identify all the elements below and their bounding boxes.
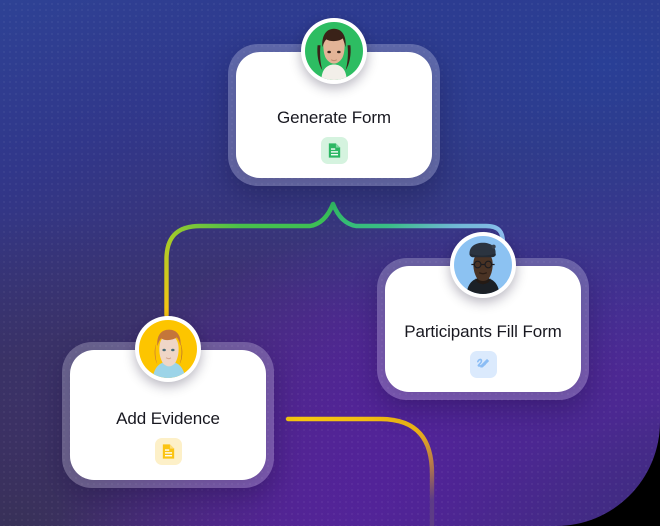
node-add-evidence[interactable]: Add Evidence (62, 342, 274, 488)
document-lines-icon (321, 137, 348, 164)
document-lines-icon (155, 438, 182, 465)
node-label: Participants Fill Form (404, 322, 561, 342)
node-label: Generate Form (277, 108, 391, 128)
node-label: Add Evidence (116, 409, 220, 429)
connector-evidence-outgoing (288, 419, 432, 526)
avatar[interactable] (450, 232, 516, 298)
signature-pen-icon (470, 351, 497, 378)
man-beret-glasses-avatar (454, 236, 512, 294)
woman-red-hair-avatar (139, 320, 197, 378)
node-participants-fill-form[interactable]: Participants Fill Form (377, 258, 589, 400)
avatar[interactable] (135, 316, 201, 382)
connector-generate-to-evidence (167, 204, 334, 315)
woman-dark-hair-avatar (305, 22, 363, 80)
workflow-canvas: Generate Form (0, 0, 660, 526)
node-generate-form[interactable]: Generate Form (228, 44, 440, 186)
avatar[interactable] (301, 18, 367, 84)
